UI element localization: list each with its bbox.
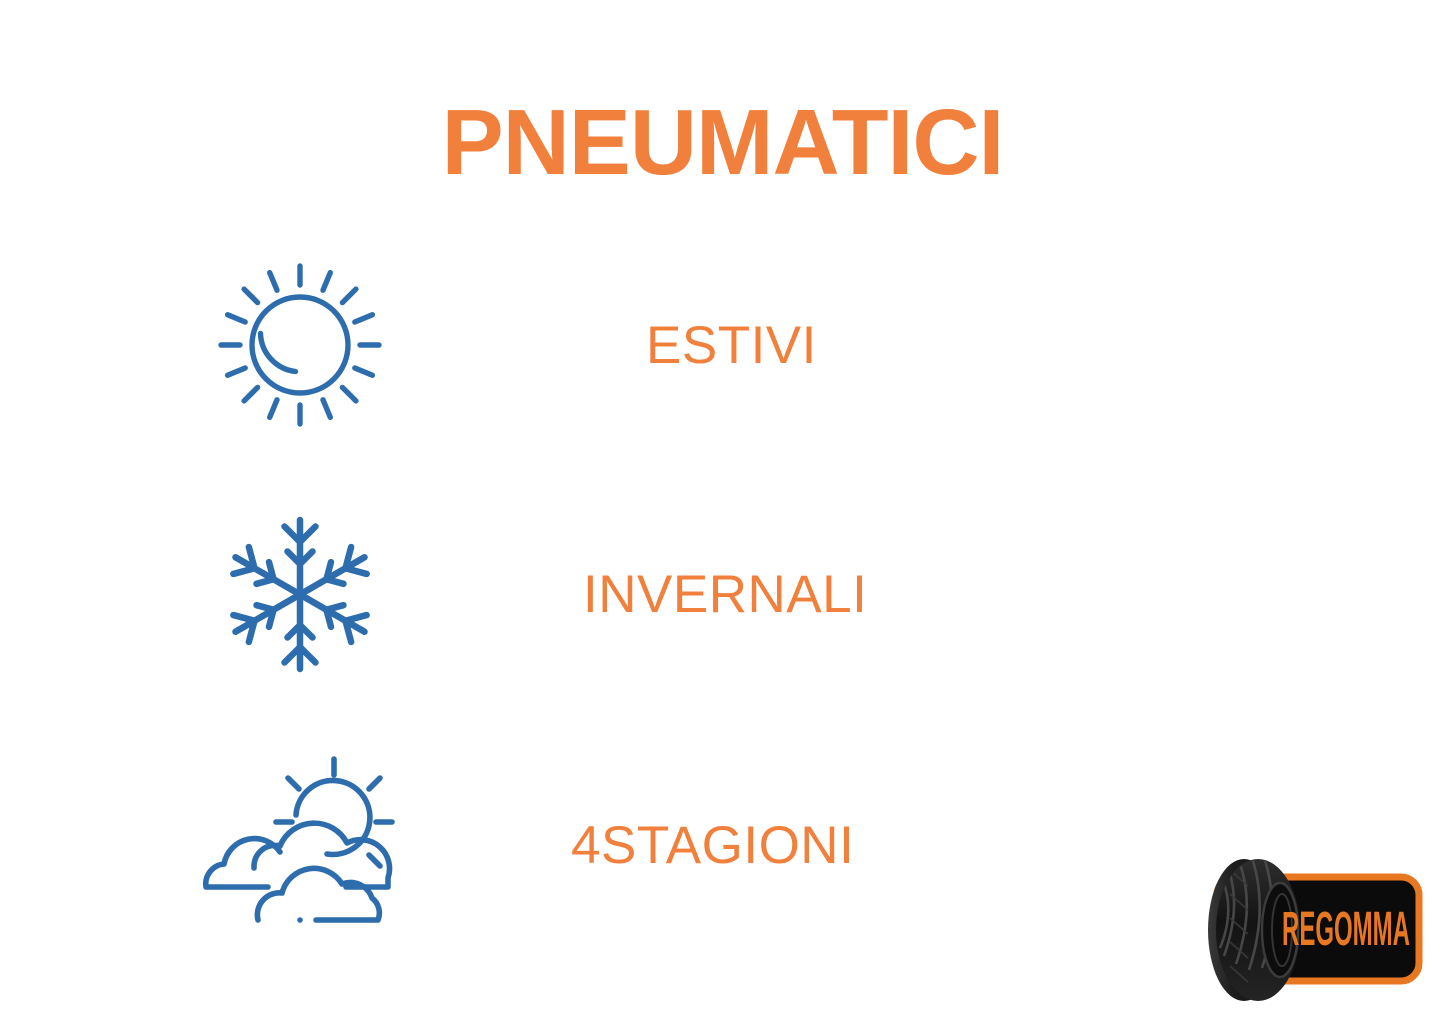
logo-brand-text: REGOMMA <box>1282 903 1410 956</box>
page-title: PNEUMATICI <box>0 96 1445 189</box>
list-item-label: 4STAGIONI <box>571 745 854 945</box>
slide-canvas: PNEUMATICI <box>0 0 1445 1022</box>
list-item: ESTIVI <box>0 245 1445 445</box>
list-item-label: INVERNALI <box>583 494 867 694</box>
snowflake-icon <box>185 494 415 694</box>
sun-icon <box>185 245 415 445</box>
list-item-label: ESTIVI <box>646 245 817 445</box>
list-item: INVERNALI <box>0 494 1445 694</box>
sun-behind-clouds-icon <box>185 745 415 945</box>
regomma-logo: REGOMMA <box>1196 852 1432 1008</box>
